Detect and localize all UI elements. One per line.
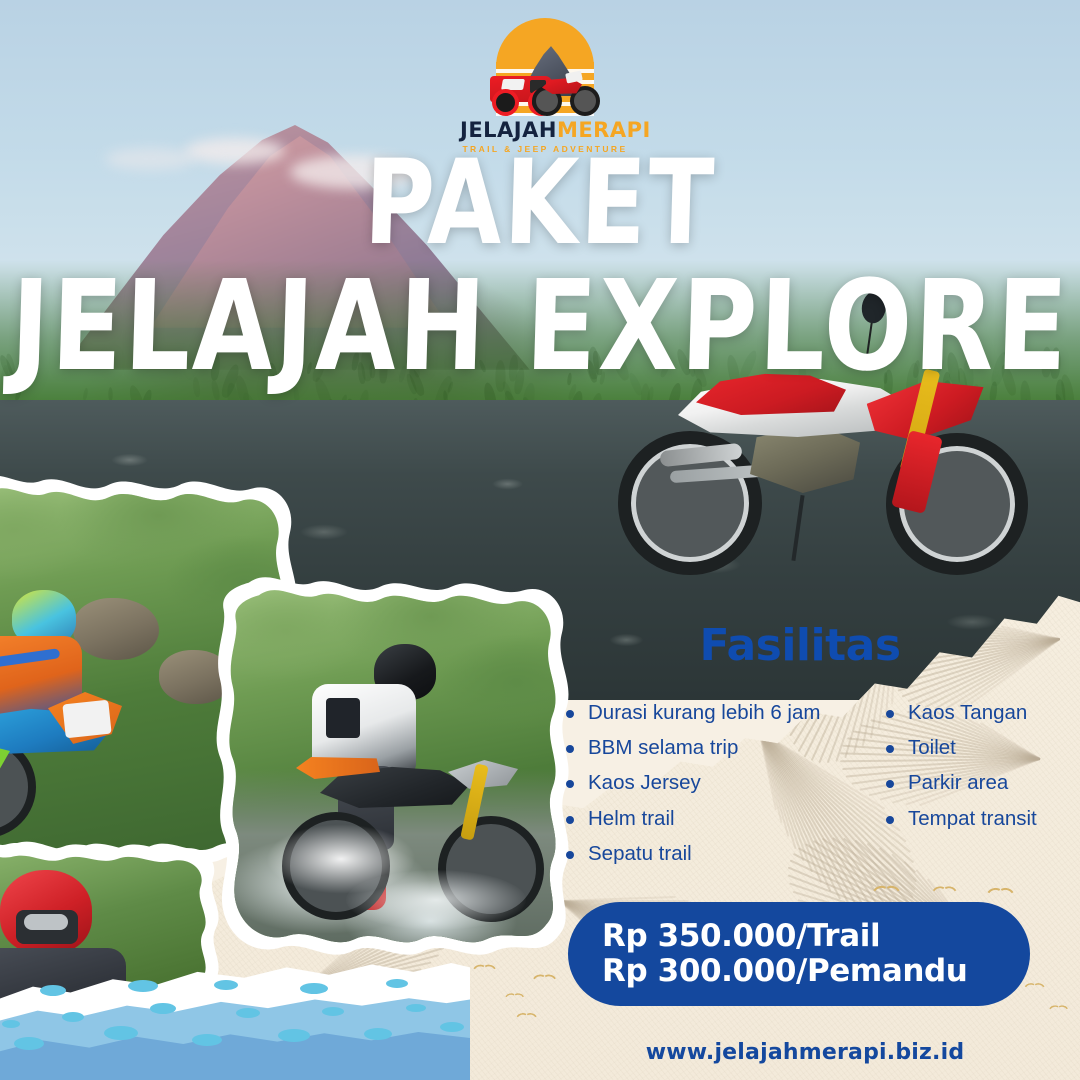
bird-doodle-icon	[515, 1012, 538, 1023]
motorcycle-icon	[532, 72, 594, 116]
bird-doodle-icon	[931, 885, 958, 898]
facility-item: Kaos Jersey	[560, 770, 860, 796]
price-line-pemandu: Rp 300.000/Pemandu	[602, 954, 1030, 989]
facility-item: Toilet	[880, 735, 1060, 761]
facility-item: Kaos Tangan	[880, 700, 1060, 726]
facility-item: BBM selama trip	[560, 735, 860, 761]
wave-bubble	[40, 985, 66, 996]
facilities-column-right: Kaos TanganToiletParkir areaTempat trans…	[880, 700, 1060, 876]
wave-bubble	[278, 1029, 310, 1042]
wave-bubble	[62, 1012, 84, 1022]
poster-title: PAKET JELAJAH EXPLORE	[0, 158, 1080, 376]
wave-bubble	[14, 1037, 44, 1050]
wave-bubble	[150, 1003, 176, 1014]
price-line-trail: Rp 350.000/Trail	[602, 919, 1030, 954]
facility-item: Helm trail	[560, 806, 860, 832]
facilities-lists: Durasi kurang lebih 6 jamBBM selama trip…	[560, 700, 1060, 876]
facilities-column-left: Durasi kurang lebih 6 jamBBM selama trip…	[560, 700, 860, 876]
blue-dirt-bike	[0, 692, 170, 822]
brand-logo: JELAJAHMERAPI TRAIL & JEEP ADVENTURE	[460, 18, 630, 158]
title-line-2: JELAJAH EXPLORE	[0, 268, 1080, 385]
wave-bubble	[300, 983, 328, 994]
poster-root: JELAJAHMERAPI TRAIL & JEEP ADVENTURE PAK…	[0, 0, 1080, 1080]
bird-doodle-icon	[472, 963, 498, 975]
wave-bubble	[364, 1028, 392, 1040]
water-splash	[346, 870, 526, 930]
bird-doodle-icon	[872, 884, 903, 898]
logo-wordmark: JELAJAHMERAPI	[460, 118, 630, 142]
photo-cutout-rider-water-crossing	[226, 588, 556, 950]
wave-decoration	[0, 960, 470, 1080]
wave-bubble	[322, 1007, 344, 1016]
bird-doodle-icon	[986, 886, 1016, 900]
facility-item: Sepatu trail	[560, 841, 860, 867]
facility-item: Parkir area	[880, 770, 1060, 796]
logo-word-merapi: MERAPI	[557, 118, 651, 142]
wave-bubble	[104, 1026, 138, 1040]
bird-doodle-icon	[532, 973, 558, 985]
title-line-1: PAKET	[0, 148, 1080, 258]
wave-bubble	[128, 980, 158, 992]
website-url[interactable]: www.jelajahmerapi.biz.id	[560, 1040, 1050, 1065]
facility-item: Tempat transit	[880, 806, 1060, 832]
wave-bubble	[236, 1008, 260, 1018]
wave-bubble	[214, 980, 238, 990]
bird-doodle-icon	[1048, 1004, 1070, 1014]
facilities-heading: Fasilitas	[560, 620, 1040, 671]
wave-bubble	[2, 1020, 20, 1028]
bird-doodle-icon	[504, 992, 526, 1002]
wave-bubble	[406, 1004, 426, 1012]
wave-bubble	[386, 979, 408, 988]
facility-item: Durasi kurang lebih 6 jam	[560, 700, 860, 726]
logo-word-jelajah: JELAJAH	[460, 118, 557, 142]
wave-bubble	[192, 1034, 222, 1046]
price-banner[interactable]: Rp 350.000/Trail Rp 300.000/Pemandu	[568, 902, 1030, 1006]
logo-tagline: TRAIL & JEEP ADVENTURE	[460, 144, 630, 154]
wave-bubble	[440, 1022, 464, 1032]
bike-kickstand	[791, 495, 804, 561]
glasses	[24, 914, 68, 930]
